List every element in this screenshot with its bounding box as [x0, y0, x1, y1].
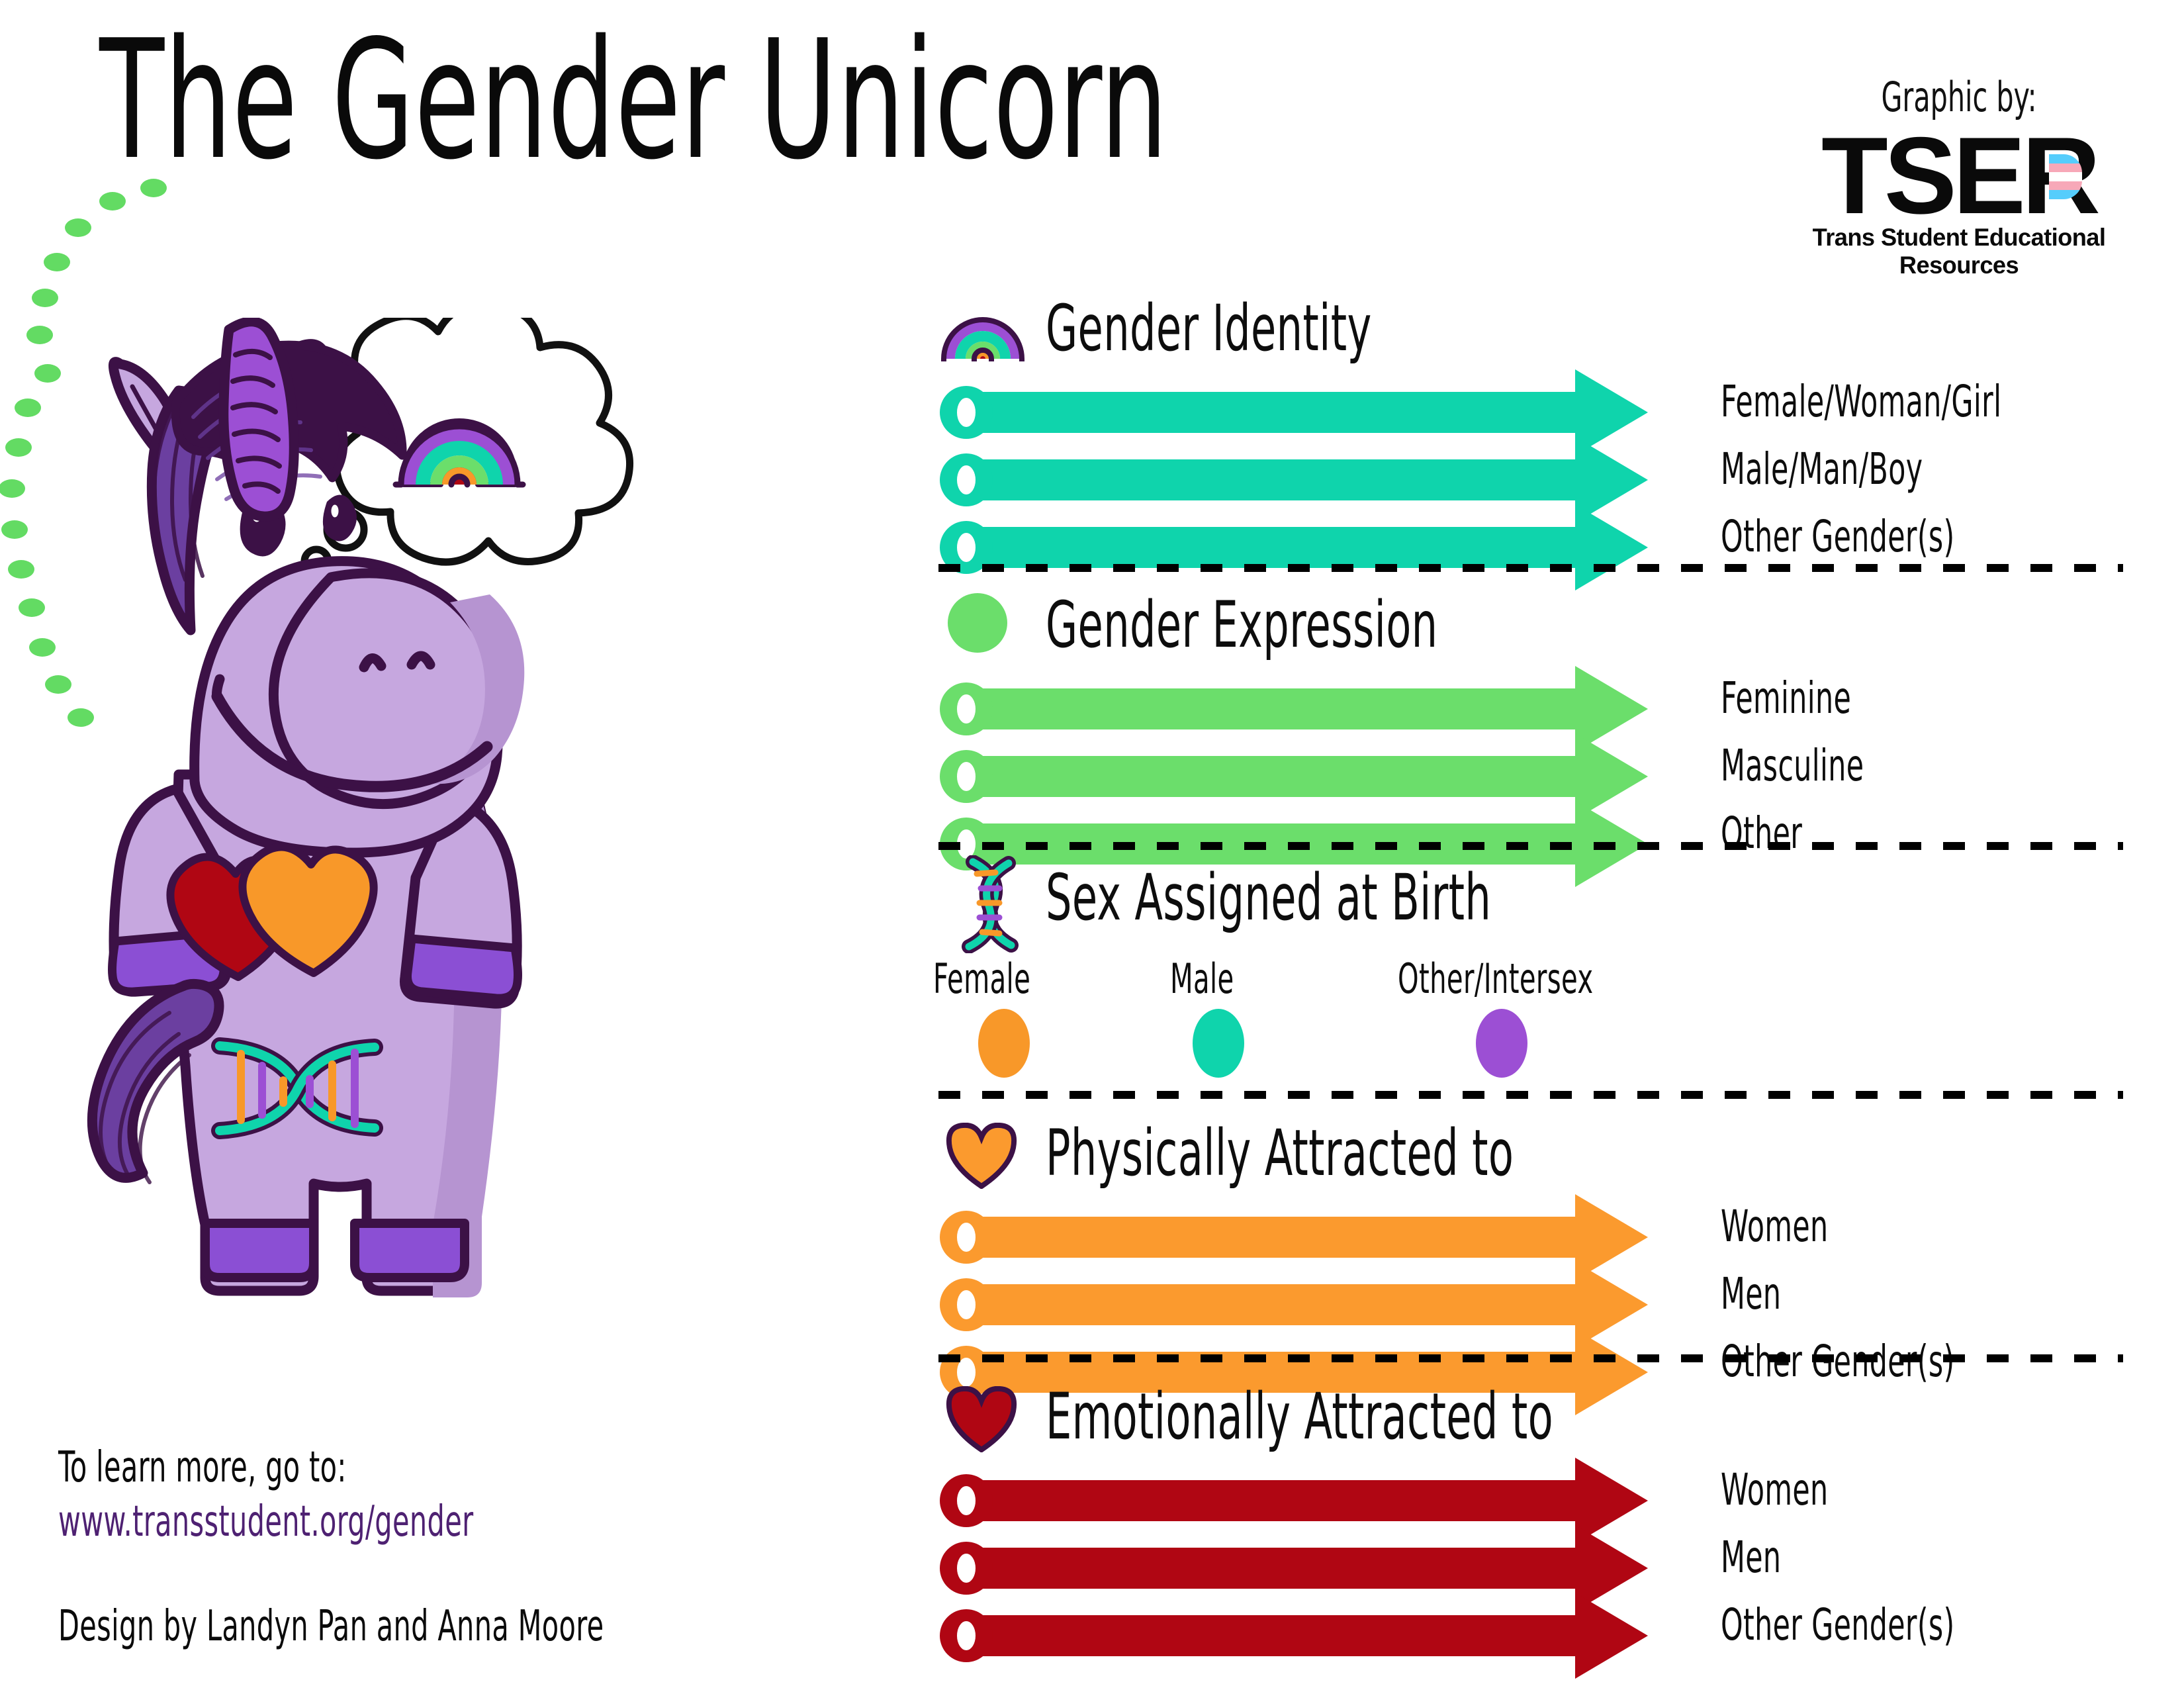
dot-label-other-intersex: Other/Intersex — [1398, 955, 1593, 1003]
rainbow-icon — [940, 303, 1026, 364]
red-heart-icon — [945, 1386, 1018, 1455]
page-title: The Gender Unicorn — [99, 19, 1168, 183]
dot-label-female: Female — [933, 955, 1030, 1003]
dna-icon — [949, 855, 1028, 956]
sex-dot-other-intersex[interactable] — [1476, 1009, 1527, 1078]
section-divider — [938, 1091, 2123, 1099]
sex-dot-female[interactable] — [978, 1009, 1030, 1078]
gender-unicorn-illustration — [46, 318, 893, 1390]
transstudent-url-link[interactable]: www.transstudent.org/gender — [58, 1497, 473, 1546]
section-divider — [938, 564, 2123, 572]
green-dot-icon — [948, 593, 1007, 653]
row-label: Women — [1721, 1464, 1829, 1515]
row-label: Feminine — [1721, 673, 1851, 724]
section-divider — [938, 1354, 2123, 1362]
orange-heart-icon — [945, 1123, 1018, 1192]
learn-more-label: To learn more, go to: — [58, 1443, 347, 1492]
row-label: Other Gender(s) — [1721, 511, 1955, 562]
design-credit-label: Design by Landyn Pan and Anna Moore — [58, 1602, 604, 1651]
section-title-gender-expression: Gender Expression — [1046, 588, 1437, 662]
section-title-physically-attracted-to: Physically Attracted to — [1046, 1116, 1514, 1190]
trans-flag-icon — [2049, 154, 2082, 199]
dot-label-male: Male — [1170, 955, 1234, 1003]
section-title-gender-identity: Gender Identity — [1046, 291, 1372, 365]
row-label: Women — [1721, 1201, 1829, 1252]
row-label: Male/Man/Boy — [1721, 444, 1923, 494]
row-label: Men — [1721, 1268, 1781, 1319]
tser-logo: Graphic by: TSER Trans Student Education… — [1780, 73, 2138, 279]
tser-acronym: TSER — [1821, 124, 2097, 228]
row-label: Men — [1721, 1532, 1781, 1583]
row-label: Masculine — [1721, 740, 1864, 791]
row-label: Other Gender(s) — [1721, 1599, 1955, 1650]
section-title-emotionally-attracted-to: Emotionally Attracted to — [1046, 1380, 1553, 1454]
section-title-sex-assigned-at-birth: Sex Assigned at Birth — [1046, 861, 1491, 935]
tser-full-name: Trans Student Educational Resources — [1784, 224, 2134, 279]
sex-dot-male[interactable] — [1193, 1009, 1244, 1078]
section-divider — [938, 842, 2123, 850]
row-label: Female/Woman/Girl — [1721, 376, 2001, 427]
row-label: Other — [1721, 808, 1802, 859]
